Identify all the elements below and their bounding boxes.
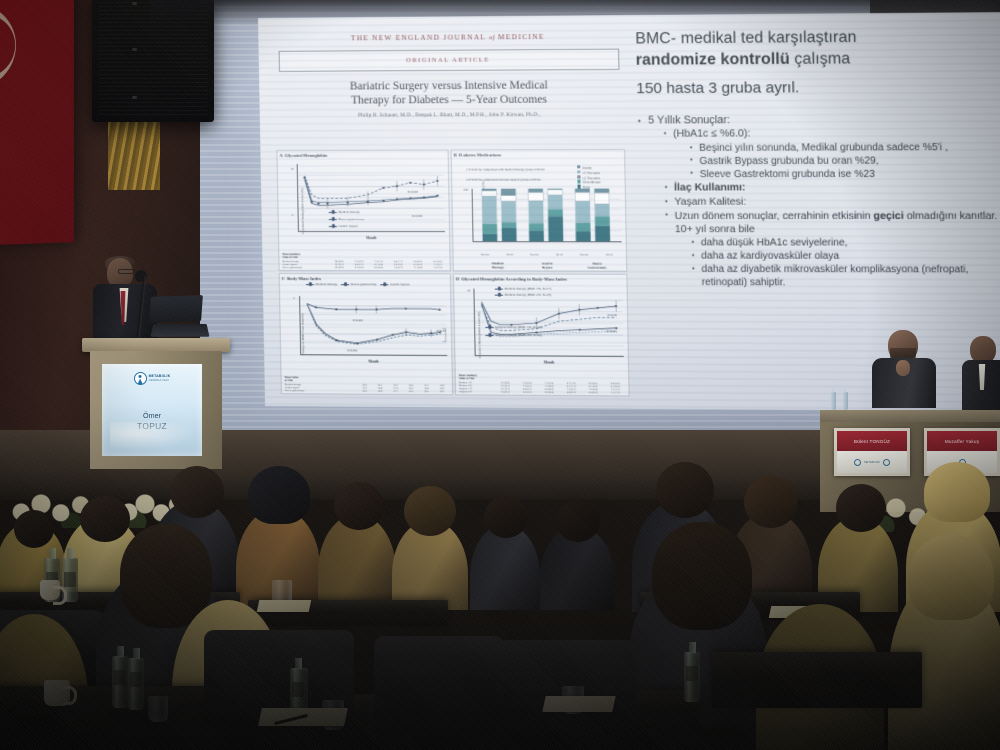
article-title: Bariatric Surgery versus Intensive Medic… bbox=[277, 78, 622, 108]
original-article-label: ORIGINAL ARTICLE bbox=[406, 57, 490, 65]
slide-heading-line2: randomize kontrollü çalışma bbox=[636, 48, 1000, 70]
slide-left-column: THE NEW ENGLAND JOURNAL of MEDICINE ORIG… bbox=[272, 23, 632, 400]
speaker-screw bbox=[132, 96, 137, 99]
slide-bullet-list-l2: (HbA1c ≤ %6.0): Beşinci yılın sonunda, M… bbox=[663, 128, 1000, 290]
panel-d-xlabel: Month bbox=[475, 360, 624, 365]
slide-heading: BMC- medikal ted karşılaştıran randomize… bbox=[635, 27, 1000, 70]
panel-c-pvalue-1: P<0.001 bbox=[353, 318, 364, 322]
original-article-box: ORIGINAL ARTICLE bbox=[279, 49, 620, 72]
logo-subtitle: CERRAHİ 2023 bbox=[149, 379, 171, 382]
conference-hall-photo: THE NEW ENGLAND JOURNAL of MEDICINE ORIG… bbox=[0, 0, 1000, 750]
panel-a-letter: A bbox=[279, 153, 282, 158]
panel-d-legend-3: Surgical therapy (BMI <35, N=42) bbox=[485, 325, 542, 330]
panel-a-ytick-top: 10 bbox=[291, 167, 294, 171]
panel-b-ytick-top: 100 bbox=[463, 188, 467, 192]
logo-wordmark: METABOLİK CERRAHİ 2023 bbox=[149, 375, 171, 382]
podium-top bbox=[82, 338, 230, 352]
figure-panel-d: DGlycated Hemoglobin According to Body-M… bbox=[453, 273, 630, 396]
panel-b-title: Diabetes Medications bbox=[459, 152, 501, 157]
figure-panel-a: AGlycated Hemoglobin Glycated Hemoglobin… bbox=[276, 149, 450, 271]
panel-a-pvalue-2: P=0.002 bbox=[412, 214, 423, 218]
panel-c-plot: P<0.001 P<0.001 P=0.03 bbox=[299, 296, 447, 356]
panel-a-title-row: AGlycated Hemoglobin bbox=[279, 153, 445, 158]
laptop-screen bbox=[149, 295, 203, 323]
panel-d-legend-2: Medical therapy (BMI ≥35, N=23) bbox=[495, 293, 552, 298]
panel-a-lines bbox=[298, 164, 445, 231]
panel-a-data-table: Mean (median) Value at Visit Medical the… bbox=[282, 253, 447, 269]
slide-right-column: BMC- medikal ted karşılaştıran randomize… bbox=[635, 27, 1000, 399]
panel-c-lines bbox=[300, 296, 447, 355]
panel-a-pvalue-1: P=0.003 bbox=[407, 190, 418, 194]
slide-heading-line1: BMC- medikal ted karşılaştıran bbox=[635, 29, 857, 48]
masthead-the: THE bbox=[351, 34, 369, 42]
panel-d-lines bbox=[474, 289, 623, 356]
masthead-main: NEW ENGLAND JOURNAL bbox=[372, 33, 486, 42]
table-row: Sleeve gastrectomy 36.026.9 27.728.2 28.… bbox=[285, 389, 450, 393]
list-item: (HbA1c ≤ %6.0): Beşinci yılın sonunda, M… bbox=[663, 128, 1000, 182]
bullet-yasam-kalitesi: Yaşam Kalitesi: bbox=[674, 197, 746, 208]
panel-c-title-row: CBody-Mass Index bbox=[282, 276, 448, 281]
bullet-ilac-kullanimi: İlaç Kullanımı: bbox=[674, 182, 746, 193]
nejm-masthead: THE NEW ENGLAND JOURNAL of MEDICINE bbox=[272, 32, 625, 43]
panel-d-legend-4: Surgical therapy (BMI ≥35, N=64) bbox=[485, 333, 542, 338]
list-item: Gastrik Bypass grubunda bu oran %29, bbox=[689, 155, 1000, 168]
speaker-led bbox=[132, 2, 137, 5]
masthead-of: of bbox=[489, 34, 495, 41]
figure-panel-b: BDiabetes Medications † P<0.05 for compa… bbox=[451, 149, 628, 272]
panel-d-plot: Medical therapy (BMI <35, N=17) Medical … bbox=[473, 289, 623, 357]
list-item: Beşinci yılın sonunda, Medikal grubunda … bbox=[689, 142, 1000, 156]
figure-panel-c: CBody-Mass Index Medical therapy Sleeve … bbox=[279, 273, 453, 395]
panel-d-pvalue-2: P<0.001 bbox=[606, 329, 617, 333]
table-row: Surgical ≥35 9.4 (9.2)6.5 (6.2) 6.8 (6.4… bbox=[459, 390, 626, 394]
panel-c-pvalue-3: P=0.03 bbox=[437, 329, 446, 333]
slide-heading-line3: 150 hasta 3 gruba ayrıl. bbox=[636, 78, 1000, 97]
panel-b-group-labels: Medical Therapy Gastric Bypass Sleeve Ga… bbox=[473, 261, 622, 269]
laptop-keyboard bbox=[150, 324, 209, 337]
panel-a-title: Glycated Hemoglobin bbox=[285, 153, 328, 158]
panel-d-data-table: Mean (median) Value at Visit Medical <35… bbox=[459, 374, 627, 394]
table-row: Sleeve gastrectomy 9.5 (8.9)6.7 (6.6) 6.… bbox=[283, 266, 448, 269]
logo-figure-icon bbox=[134, 372, 147, 385]
panel-d-letter: D bbox=[456, 276, 459, 281]
audience-area bbox=[0, 404, 1000, 750]
panel-c-legend: Medical therapy Sleeve gastrectomy Gastr… bbox=[306, 282, 448, 287]
event-logo: METABOLİK CERRAHİ 2023 bbox=[134, 372, 171, 385]
panel-b-bars bbox=[473, 189, 622, 242]
foreground-shading bbox=[0, 404, 1000, 750]
bullet-l1-text: 5 Yıllık Sonuçlar: bbox=[648, 114, 730, 127]
panel-a-ytick-bottom: 4 bbox=[292, 213, 294, 217]
list-item: daha az diyabetik mikrovasküler komplika… bbox=[691, 264, 1000, 290]
figure-grid: AGlycated Hemoglobin Glycated Hemoglobin… bbox=[276, 149, 629, 396]
list-item: Uzun dönem sonuçlar, cerrahinin etkisini… bbox=[664, 211, 1000, 290]
slide-bullet-list: 5 Yıllık Sonuçlar: (HbA1c ≤ %6.0): Beşin… bbox=[637, 113, 1000, 290]
moderator-hand bbox=[896, 360, 910, 376]
slide-bullet-list-l3: Beşinci yılın sonunda, Medikal grubunda … bbox=[689, 142, 1000, 182]
panel-b-letter: B bbox=[454, 152, 457, 157]
list-item: daha düşük HbA1c seviyelerine, bbox=[691, 238, 1000, 251]
panel-a-legend-2: Sleeve gastrectomy bbox=[329, 217, 365, 221]
list-item: daha az kardiyovasküler olaya bbox=[691, 251, 1000, 264]
panel-d-pvalue-1: P<0.05 bbox=[608, 313, 617, 317]
panel-c-letter: C bbox=[282, 276, 285, 281]
panel-b-legend: Insulin ≥3 Therapies ≤2 Therapies Monoth… bbox=[577, 165, 623, 189]
panel-a-plot: P=0.003 P=0.002 Medical therapy Sleeve g… bbox=[297, 164, 445, 232]
panel-a-xlabel: Month bbox=[298, 236, 445, 240]
speaker-screw bbox=[132, 48, 137, 51]
panel-a-legend-3: Gastric bypass bbox=[329, 224, 358, 228]
glasses-icon bbox=[118, 269, 134, 274]
panel-d-ytick-top: 10 bbox=[467, 289, 470, 293]
panel-d-legend-1: Medical therapy (BMI <35, N=17) bbox=[495, 287, 552, 292]
panel-b-title-row: BDiabetes Medications bbox=[454, 152, 622, 157]
panel-b-xticks: Baseline Mo 60 Baseline Mo 60 Baseline M… bbox=[473, 253, 622, 256]
panel-a-legend-1: Medical therapy bbox=[329, 210, 360, 214]
list-item: Sleeve Gastrektomi grubunda ise %23 bbox=[689, 168, 1000, 181]
panel-b-footnote-1: † P<0.05 for comparison with medical the… bbox=[466, 167, 564, 171]
panel-c-title: Body-Mass Index bbox=[287, 276, 321, 281]
bullet-uzun-donem: Uzun dönem sonuçlar, cerrahinin etkisini… bbox=[675, 211, 998, 235]
bullet-l2-text: (HbA1c ≤ %6.0): bbox=[673, 128, 750, 139]
masthead-tail: MEDICINE bbox=[498, 33, 545, 41]
turkish-flag bbox=[0, 0, 74, 246]
panel-c-data-table: Mean Value at Visit Medical therapy 36.4… bbox=[285, 376, 450, 393]
flag-crescent-icon bbox=[0, 2, 16, 91]
panel-d-title: Glycated Hemoglobin According to Body-Ma… bbox=[461, 276, 567, 281]
article-authors: Philip R. Schauer, M.D., Deepak L. Bhatt… bbox=[276, 112, 625, 120]
panel-c-ytick-top: 2 bbox=[293, 296, 295, 300]
list-item: İlaç Kullanımı: bbox=[664, 182, 1000, 196]
list-item: 5 Yıllık Sonuçlar: (HbA1c ≤ %6.0): Beşin… bbox=[637, 113, 1000, 290]
list-item: Yaşam Kalitesi: bbox=[664, 196, 1000, 209]
panel-b-plot bbox=[472, 189, 622, 243]
slide-bullet-list-l3b: daha düşük HbA1c seviyelerine, daha az k… bbox=[691, 238, 1000, 290]
panel-d-title-row: DGlycated Hemoglobin According to Body-M… bbox=[456, 276, 624, 281]
panel-c-pvalue-2: P<0.001 bbox=[347, 348, 358, 352]
panel-c-xlabel: Month bbox=[300, 359, 447, 364]
